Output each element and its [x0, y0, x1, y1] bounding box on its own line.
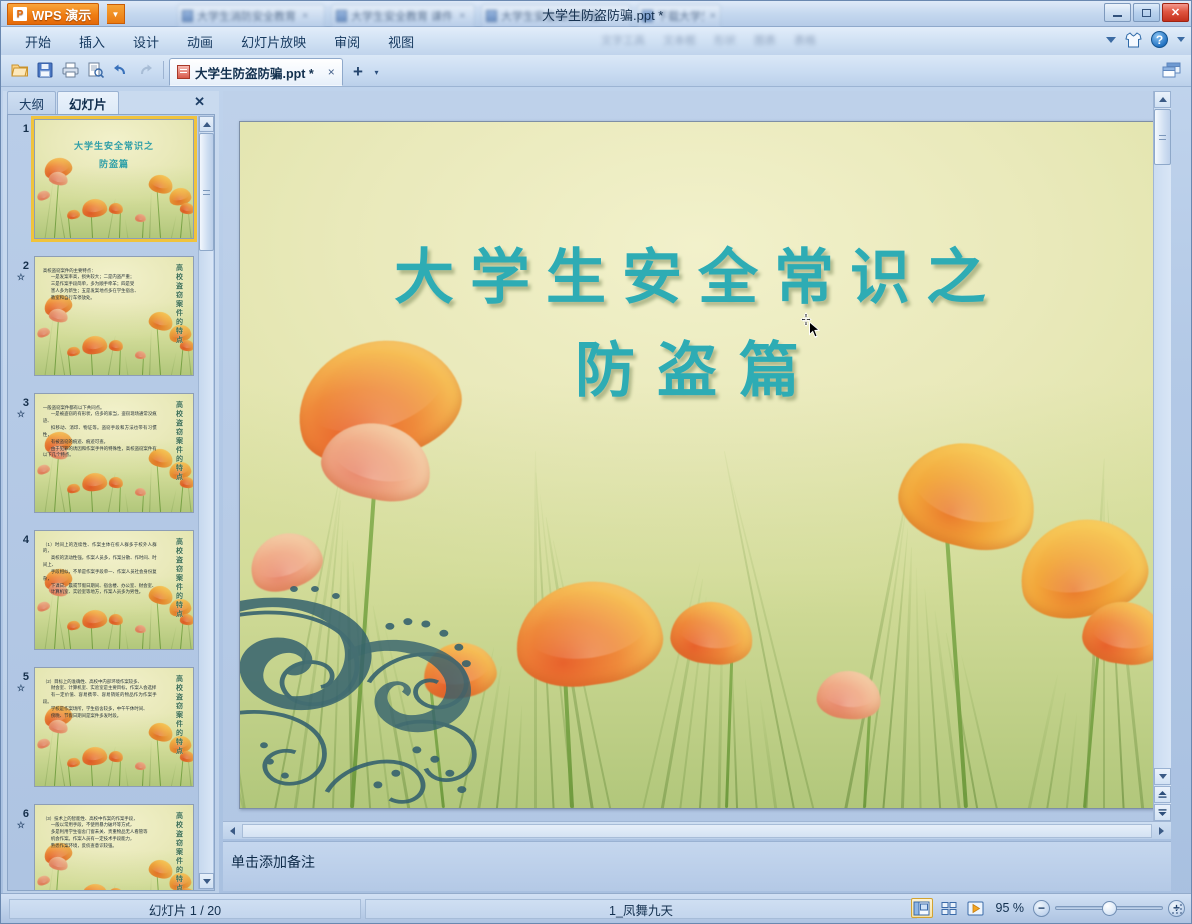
menu-item-审阅[interactable]: 审阅 [320, 27, 374, 55]
thumbnail-vertical-text: 高校盗窃案件的特点 [174, 675, 184, 756]
slide-thumbnail-item[interactable]: 5☆（2）目标上的准确性、高校中内部环境作案较多、财会室、计算机室、实验室是主要… [8, 667, 198, 787]
previous-slide-button[interactable] [1154, 786, 1171, 803]
panel-tab-幻灯片[interactable]: 幻灯片 [57, 91, 119, 115]
skin-shirt-icon[interactable] [1125, 32, 1142, 48]
redo-icon[interactable] [134, 59, 156, 81]
chevron-down-small-icon[interactable] [1177, 37, 1185, 42]
close-button[interactable]: ✕ [1162, 3, 1189, 22]
normal-view-icon[interactable] [911, 898, 933, 918]
thumbnail-text-line: 有被盗窃的痕迹、痕迹可查。 [43, 439, 157, 446]
new-tab-button[interactable]: + [346, 58, 370, 86]
wps-presentation-window: P WPS 演示 ▼ 大学生消防安全教育×大学生安全教育 课件×大学生安全知识讲… [0, 0, 1192, 924]
help-icon[interactable]: ? [1151, 31, 1168, 48]
thumbnail-text-line: 傍晚、节假日期间是案件多发时段。 [43, 713, 157, 720]
wps-brand-dropdown[interactable]: ▼ [107, 4, 125, 24]
thumbnail-text-line: 有一定价值、容易携带、容易销赃的物品作为作案手段。 [43, 692, 157, 706]
slide-thumbnail[interactable]: （2）目标上的准确性、高校中内部环境作案较多、财会室、计算机室、实验室是主要目标… [34, 667, 194, 787]
menu-item-幻灯片放映[interactable]: 幻灯片放映 [227, 27, 320, 55]
slide-vertical-scrollbar[interactable] [1153, 91, 1171, 821]
background-tab-label: 下载大学生防骗知识 [657, 8, 704, 24]
thumbnail-text-line: 扣移动、消印、物证等。盗窃手段和方法也带有习惯性， [43, 425, 157, 439]
slide-editing-stage: 大学生安全常识之 防盗篇 [223, 91, 1171, 839]
document-tab-label: 大学生防盗防骗.ppt * [195, 63, 314, 82]
slide-thumbnail-item[interactable]: 3☆一般盗窃案件都有以下共同点。一是被盗窃的有形状，倍多的家当，盗窃现场通常没痕… [8, 393, 198, 513]
print-icon[interactable] [59, 59, 81, 81]
triangle-up-icon [203, 122, 211, 127]
thumbnail-text-line: 由于犯罪的诱因和作案手件的特殊性，高校盗窃案件有以下几个特点。 [43, 446, 157, 460]
next-slide-button[interactable] [1154, 804, 1171, 821]
thumbnail-text-line: 计算机室、实验室等地方，作案人员多为男性。 [43, 589, 157, 596]
slide-number: 4 [8, 530, 34, 650]
slide-thumbnail[interactable]: （1）时间上的连续性、作案主体在校人群多于校外人群的，高校的流动性强，作案人员多… [34, 530, 194, 650]
zoom-out-button[interactable]: − [1033, 900, 1050, 917]
thumbnail-body-text: 高校盗窃案件的主要特点：一是发案率高，损失较大；二是内盗严重；三是作案手段简单，… [43, 268, 157, 302]
panel-scroll-down-button[interactable] [199, 873, 214, 889]
title-bar: P WPS 演示 ▼ 大学生消防安全教育×大学生安全教育 课件×大学生安全知识讲… [1, 1, 1192, 27]
wps-brand-badge[interactable]: P WPS 演示 [7, 3, 99, 25]
triangle-down-icon [1159, 774, 1167, 779]
menu-item-开始[interactable]: 开始 [11, 27, 65, 55]
panel-scroll-thumb[interactable] [199, 133, 214, 251]
background-document-tab[interactable]: 大学生安全教育 课件× [331, 4, 475, 27]
slide-number: 3☆ [8, 393, 34, 513]
slide-counter: 幻灯片 1 / 20 [9, 899, 361, 919]
slide-thumbnail[interactable]: 大学生安全常识之防盗篇 [34, 119, 194, 239]
toolbar-divider [163, 61, 164, 79]
minimize-ribbon-icon[interactable] [1162, 62, 1181, 79]
scroll-thumb[interactable] [1154, 109, 1171, 165]
slide-thumbnail-item[interactable]: 4（1）时间上的连续性、作案主体在校人群多于校外人群的，高校的流动性强，作案人员… [8, 530, 198, 650]
thumbnail-artwork [35, 120, 193, 238]
triangle-right-icon [1159, 827, 1164, 835]
thumbnail-text-line: （1）时间上的连续性、作案主体在校人群多于校外人群的， [43, 542, 157, 556]
wps-brand-label: WPS 演示 [32, 5, 91, 24]
paisley-ornament [240, 575, 570, 808]
slide-thumbnail-item[interactable]: 1大学生安全常识之防盗篇 [8, 119, 198, 239]
tulip-flower [180, 202, 193, 214]
print-preview-icon[interactable] [84, 59, 106, 81]
design-template-name: 1_凤舞九天 [365, 899, 917, 919]
slide-thumbnail[interactable]: 一般盗窃案件都有以下共同点。一是被盗窃的有形状，倍多的家当，盗窃现场通常没痕迹、… [34, 393, 194, 513]
document-tab[interactable]: 大学生防盗防骗.ppt * × [169, 58, 343, 86]
presentation-file-icon [486, 10, 497, 22]
background-tab-label: 大学生消防安全教育 [197, 8, 296, 24]
chevron-down-icon[interactable] [1106, 37, 1116, 43]
document-tab-close-icon[interactable]: × [328, 65, 335, 79]
menu-item-设计[interactable]: 设计 [119, 27, 173, 55]
scroll-left-button[interactable] [224, 823, 241, 839]
panel-scroll-up-button[interactable] [199, 116, 214, 132]
panel-scrollbar[interactable] [198, 116, 213, 889]
status-bar: 幻灯片 1 / 20 1_凤舞九天 95 % − + [1, 893, 1192, 923]
thumbnail-body-text: （1）时间上的连续性、作案主体在校人群多于校外人群的，高校的流动性强，作案人员多… [43, 542, 157, 597]
status-bar-right: 95 % − + [911, 898, 1186, 918]
maximize-button[interactable] [1133, 3, 1160, 22]
slide-number: 2☆ [8, 256, 34, 376]
background-tab-close-icon[interactable]: × [302, 10, 308, 22]
scroll-right-button[interactable] [1153, 823, 1170, 839]
save-icon[interactable] [34, 59, 56, 81]
slide-thumbnail-item[interactable]: 6☆（3）技术上的智能性、高校中作案的作案手段，一般以常用手段，不使用暴力破坏等… [8, 804, 198, 891]
slide-artwork [240, 122, 1156, 808]
zoom-slider-thumb[interactable] [1102, 901, 1117, 916]
scroll-up-button[interactable] [1154, 91, 1171, 108]
thumbnail-vertical-text: 高校盗窃案件的特点 [174, 538, 184, 619]
slide-horizontal-scrollbar[interactable] [223, 821, 1171, 839]
resize-grip-icon[interactable] [1172, 904, 1183, 915]
menu-item-动画[interactable]: 动画 [173, 27, 227, 55]
menu-item-视图[interactable]: 视图 [374, 27, 428, 55]
slide-number: 6☆ [8, 804, 34, 891]
horizontal-scroll-track[interactable] [242, 824, 1152, 838]
maximize-icon [1142, 9, 1151, 17]
quick-access-toolbar: ▼ 大学生防盗防骗.ppt * × + ▾ [1, 55, 1192, 87]
background-document-tab[interactable]: 大学生消防安全教育× [177, 4, 325, 27]
triangle-up-icon [1159, 97, 1167, 102]
play-slideshow-icon[interactable] [965, 898, 987, 918]
scroll-down-button[interactable] [1154, 768, 1171, 785]
menu-items: 开始插入设计动画幻灯片放映审阅视图 [11, 27, 428, 55]
presentation-file-icon [182, 10, 193, 22]
wps-logo-icon: P [13, 7, 27, 21]
close-panel-icon[interactable]: ✕ [194, 94, 205, 110]
menu-bar-right-icons: ? [1106, 31, 1185, 48]
animation-star-icon: ☆ [8, 684, 29, 693]
presentation-file-icon [336, 10, 347, 22]
panel-tabs: 大纲幻灯片 [7, 91, 120, 114]
slides-panel: 大纲幻灯片 ✕ 1大学生安全常识之防盗篇2☆高校盗窃案件的主要特点：一是发案率高… [3, 91, 219, 893]
thumbnail-text-line: 高校的流动性强，作案人员多，作案分散、作时间、时间上、 [43, 555, 157, 569]
slide-thumbnail-list[interactable]: 1大学生安全常识之防盗篇2☆高校盗窃案件的主要特点：一是发案率高，损失较大；二是… [7, 114, 215, 891]
thumbnail-text-line: 害人多为新生；五是发案地点多在学生宿舍、 [43, 288, 157, 295]
animation-star-icon: ☆ [8, 410, 29, 419]
minimize-icon [1113, 15, 1122, 17]
new-tab-chevron-icon[interactable]: ▾ [370, 58, 383, 86]
thumbnail-vertical-text: 高校盗窃案件的特点 [174, 401, 184, 482]
triangle-down-icon [203, 879, 211, 884]
minimize-button[interactable] [1104, 3, 1131, 22]
grip-icon [203, 190, 210, 195]
thumbnail-title: 大学生安全常识之防盗篇 [35, 139, 193, 170]
window-controls: ✕ [1104, 3, 1189, 22]
animation-star-icon: ☆ [8, 273, 29, 282]
background-tab-close-icon[interactable]: × [459, 10, 465, 22]
slide-number: 1 [8, 119, 34, 239]
presentation-file-icon [177, 65, 190, 79]
zoom-level-label: 95 % [996, 901, 1025, 915]
thumbnail-text-line: 机会作案。作案人员有一定技术手段能力， [43, 836, 157, 843]
menu-item-插入[interactable]: 插入 [65, 27, 119, 55]
thumbnail-vertical-text: 高校盗窃案件的特点 [174, 812, 184, 891]
thumbnail-body-text: （2）目标上的准确性、高校中内部环境作案较多、财会室、计算机室、实验室是主要目标… [43, 679, 157, 720]
notes-placeholder: 单击添加备注 [231, 852, 315, 872]
slide-thumbnail-item[interactable]: 2☆高校盗窃案件的主要特点：一是发案率高，损失较大；二是内盗严重；三是作案手段简… [8, 256, 198, 376]
thumbnail-text-line: 学校是作案场所，学生宿舍较多，中午午休时间、 [43, 706, 157, 713]
grip-icon [1159, 135, 1166, 140]
menu-bar: 开始插入设计动画幻灯片放映审阅视图 文字工具文本框形状图表表格 ? [1, 27, 1192, 55]
undo-icon[interactable] [109, 59, 131, 81]
thumbnail-body-text: 一般盗窃案件都有以下共同点。一是被盗窃的有形状，倍多的家当，盗窃现场通常没痕迹、… [43, 405, 157, 460]
animation-star-icon: ☆ [8, 821, 29, 830]
current-slide-canvas[interactable]: 大学生安全常识之 防盗篇 [239, 121, 1157, 809]
slide-thumbnail[interactable]: 高校盗窃案件的主要特点：一是发案率高，损失较大；二是内盗严重；三是作案手段简单，… [34, 256, 194, 376]
thumbnail-title-line1: 大学生安全常识之 [74, 141, 154, 151]
thumbnail-vertical-text: 高校盗窃案件的特点 [174, 264, 184, 345]
slide-thumbnail[interactable]: （3）技术上的智能性、高校中作案的作案手段，一般以常用手段，不使用暴力破坏等方式… [34, 804, 194, 891]
quick-access-buttons: ▼ [9, 59, 186, 81]
slide-sorter-icon[interactable] [938, 898, 960, 918]
open-icon[interactable] [9, 59, 31, 81]
triangle-left-icon [230, 827, 235, 835]
panel-tab-大纲[interactable]: 大纲 [7, 91, 56, 114]
thumbnail-text-line: 一是被盗窃的有形状，倍多的家当，盗窃现场通常没痕迹、 [43, 411, 157, 425]
active-document-title: 大学生防盗防骗.ppt * [542, 5, 663, 24]
slide-number: 5☆ [8, 667, 34, 787]
notes-pane[interactable]: 单击添加备注 [223, 841, 1171, 891]
ribbon-ghost-overlay: 文字工具文本框形状图表表格 [601, 31, 971, 49]
grass-blade [114, 890, 117, 891]
thumbnail-title-line2: 防盗篇 [35, 157, 193, 170]
thumbnail-text-line: 手段相似，不单是作案手段单一、作案人员社会身份复杂， [43, 569, 157, 583]
thumbnail-text-line: 熟悉作案环境，反侦查意识较强。 [43, 843, 157, 850]
thumbnail-text-line: 教室和自行车停放处。 [43, 295, 157, 302]
thumbnail-body-text: （3）技术上的智能性、高校中作案的作案手段，一般以常用手段，不使用暴力破坏等方式… [43, 816, 157, 850]
background-tab-label: 大学生安全教育 课件 [351, 8, 453, 24]
background-tab-close-icon[interactable]: × [710, 10, 716, 22]
zoom-slider-track[interactable] [1055, 906, 1163, 910]
